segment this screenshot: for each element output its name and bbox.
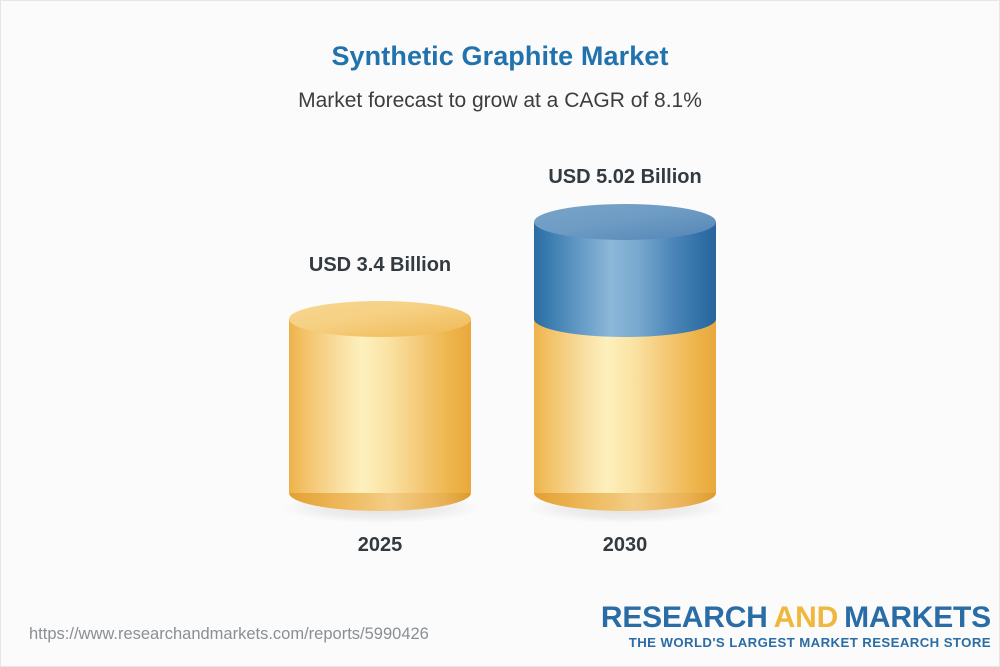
- cylinder-top-cap-2025: [289, 301, 471, 337]
- source-url[interactable]: https://www.researchandmarkets.com/repor…: [29, 625, 429, 644]
- category-label-2030: 2030: [534, 534, 716, 557]
- chart-canvas: Synthetic Graphite Market Market forecas…: [0, 0, 1000, 667]
- logo-word-markets: MARKETS: [844, 601, 991, 634]
- logo-tagline: THE WORLD'S LARGEST MARKET RESEARCH STOR…: [601, 635, 991, 650]
- bar-cylinder-2030[interactable]: [534, 204, 716, 511]
- logo-wordmark: RESEARCHANDMARKETS: [601, 602, 991, 634]
- bar-value-label-2025: USD 3.4 Billion: [289, 254, 471, 277]
- bar-value-label-2030: USD 5.02 Billion: [534, 166, 716, 189]
- logo-word-research: RESEARCH: [601, 601, 768, 634]
- plot-area: USD 3.4 Billion 2025 USD 5.02 Billion: [1, 1, 1000, 667]
- bar-cylinder-2025[interactable]: [289, 301, 471, 511]
- cylinder-body-yellow-2030: [534, 319, 716, 493]
- category-label-2025: 2025: [289, 534, 471, 557]
- research-and-markets-logo[interactable]: RESEARCHANDMARKETS THE WORLD'S LARGEST M…: [601, 602, 991, 651]
- cylinder-segment-divider-2030: [534, 301, 716, 337]
- cylinder-body-yellow-2025: [289, 319, 471, 493]
- logo-word-and: AND: [774, 601, 838, 634]
- cylinder-top-cap-2030: [534, 204, 716, 240]
